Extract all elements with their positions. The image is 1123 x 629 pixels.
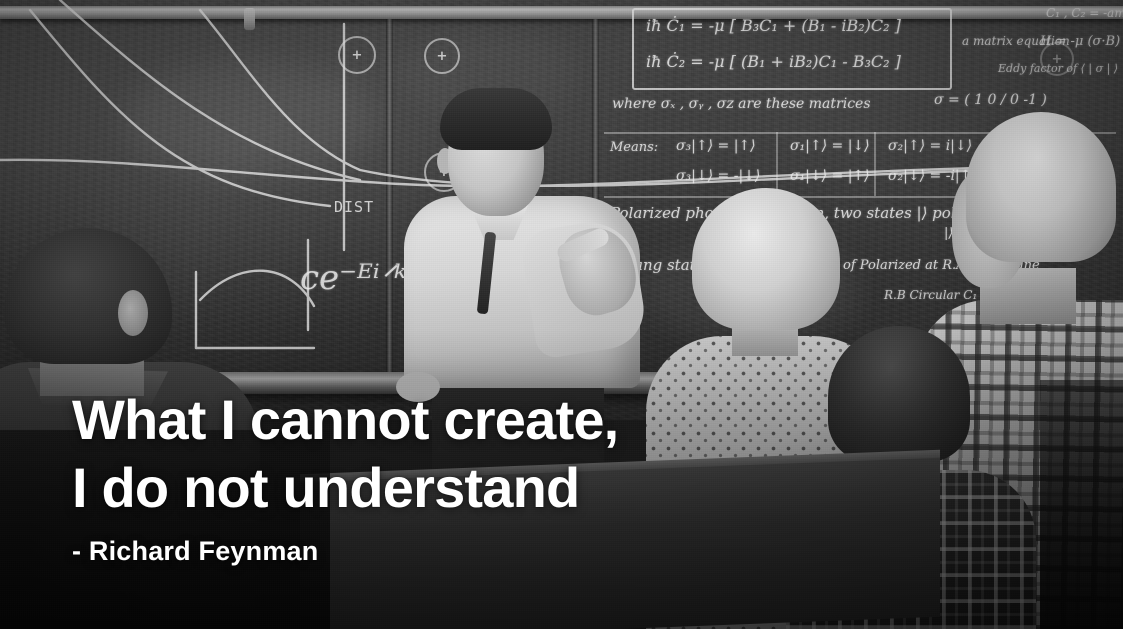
blonde-hair [692,188,840,330]
ear [118,290,148,336]
hair [966,112,1116,262]
rail-clip [244,8,255,30]
foreground-shadow-right [1040,380,1123,629]
equation-line-2: iħ Ċ₂ = -μ [ (B₁ + iB₂)C₁ - B₃C₂ ] [646,52,901,71]
ket-cell: σ₂|↑⟩ = i|↓⟩ [888,138,972,154]
boltzmann-formula: ce⁻ᴱⁱᐟᵏᵀ [300,258,421,298]
charge-plus-icon: + [338,36,376,74]
annotation-hamiltonian: H = -μ (σ·B) [1040,34,1120,49]
quote-text: What I cannot create, I do not understan… [72,386,772,522]
charge-plus-icon: + [424,38,460,74]
table-rule [874,132,876,196]
table-rule [776,132,778,196]
dist-label: DIST [334,198,374,216]
annotation-eddy-factor: Eddy factor of ⟨ | σ | ⟩ [998,62,1118,75]
blackboard-seam [386,19,393,379]
means-label: Means: [610,140,658,155]
where-line: where σₓ , σᵧ , σᴢ are these matrices [612,96,871,112]
feynman-hair [440,88,552,150]
ket-cell: σ₁|↑⟩ = |↓⟩ [790,138,870,154]
equation-line-1: iħ Ċ₁ = -μ [ B₃C₁ + (B₁ - iB₂)C₂ ] [646,16,901,35]
blackboard-rail [0,6,1123,19]
chalk-smudge [120,60,380,180]
quote-attribution: - Richard Feynman [72,536,772,567]
ket-cell: σ₃|↓⟩ = -|↓⟩ [676,168,760,184]
annotation-amplitudes: C₁ , C₂ = -ampl [1046,6,1123,20]
ket-cell: σ₃|↑⟩ = |↑⟩ [676,138,756,154]
quote-image: DIST ce⁻ᴱⁱᐟᵏᵀ + + + + + iħ Ċ₁ = -μ [ B₃C… [0,0,1123,629]
dark-hair [828,326,970,462]
ket-cell: σ₁|↓⟩ = |↑⟩ [790,168,870,184]
quote-block: What I cannot create, I do not understan… [72,386,772,567]
matrix-sample: σ = ( 1 0 / 0 -1 ) [934,92,1047,108]
